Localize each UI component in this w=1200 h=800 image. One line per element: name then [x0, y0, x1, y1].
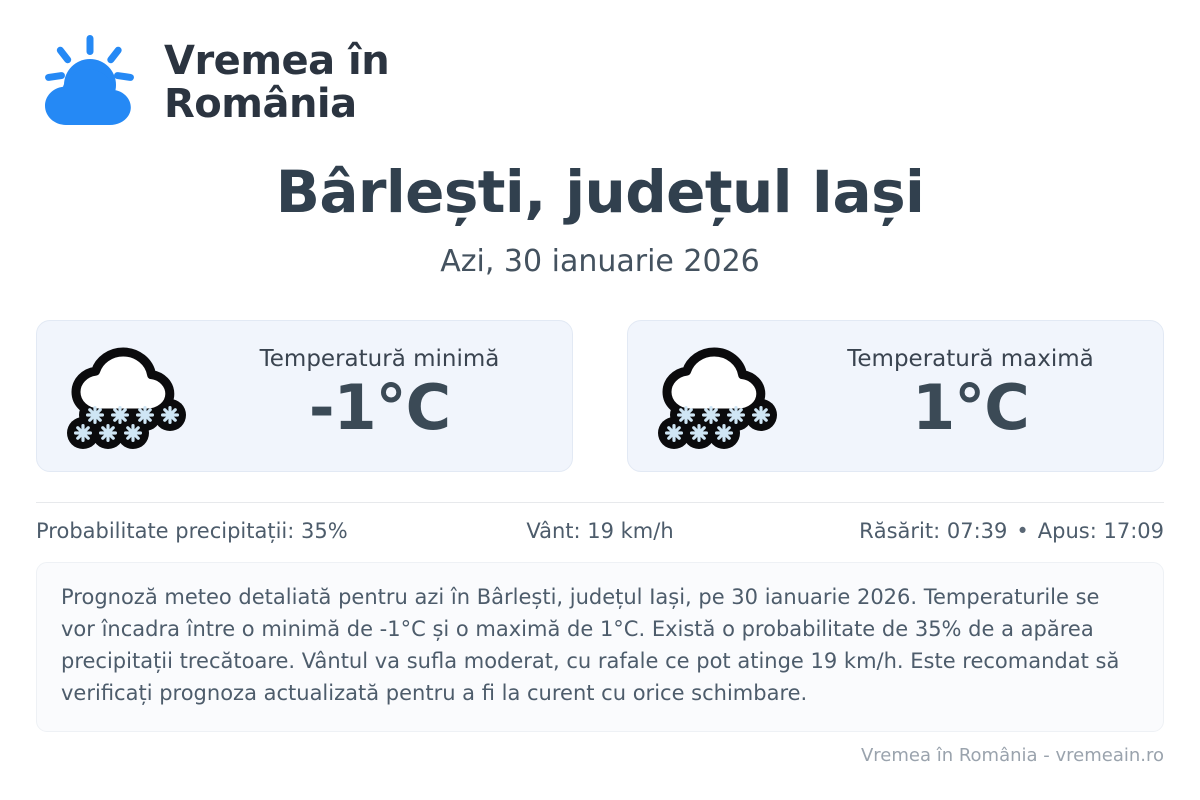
min-temperature-value: -1°C [309, 375, 450, 442]
brand-name: Vremea în România [164, 40, 389, 126]
min-temperature-card: Temperatură minimă -1°C [36, 320, 573, 472]
stats-divider [36, 502, 1164, 503]
title-block: Bârlești, județul Iași Azi, 30 ianuarie … [36, 162, 1164, 278]
sun-behind-cloud-icon [36, 33, 142, 133]
wind-stat: Vânt: 19 km/h [412, 519, 788, 544]
snow-cloud-icon [654, 343, 778, 449]
max-temperature-texts: Temperatură maximă 1°C [796, 346, 1145, 447]
forecast-description: Prognoză meteo detaliată pentru azi în B… [36, 562, 1164, 732]
sunset-time: Apus: 17:09 [1038, 519, 1164, 543]
site-header: Vremea în România [36, 0, 1164, 118]
page-date: Azi, 30 ianuarie 2026 [36, 245, 1164, 278]
max-temperature-card: Temperatură maximă 1°C [627, 320, 1164, 472]
snow-cloud-icon [63, 343, 187, 449]
temperature-cards: Temperatură minimă -1°C [36, 320, 1164, 472]
max-temperature-value: 1°C [912, 375, 1029, 442]
min-temperature-label: Temperatură minimă [260, 346, 500, 374]
precipitation-stat: Probabilitate precipitații: 35% [36, 519, 412, 544]
max-temperature-label: Temperatură maximă [847, 346, 1093, 374]
sunrise-time: Răsărit: 07:39 [859, 519, 1007, 543]
weather-page: Vremea în România Bârlești, județul Iași… [0, 0, 1200, 800]
footer-credit: Vremea în România - vremeain.ro [861, 745, 1164, 767]
stats-row: Probabilitate precipitații: 35% Vânt: 19… [36, 519, 1164, 544]
page-title: Bârlești, județul Iași [36, 162, 1164, 223]
min-temperature-texts: Temperatură minimă -1°C [205, 346, 554, 447]
bullet-separator-icon: • [1007, 519, 1037, 543]
sun-times-stat: Răsărit: 07:39•Apus: 17:09 [788, 519, 1164, 544]
